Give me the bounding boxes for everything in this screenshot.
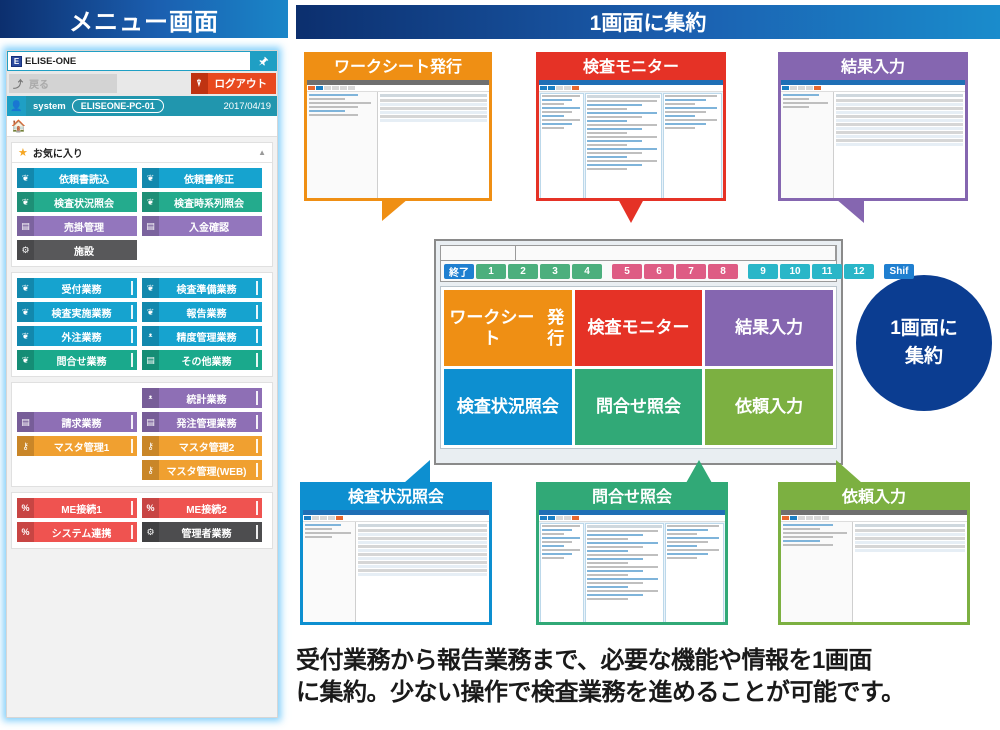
card-title: 依頼入力 (778, 482, 970, 507)
mini-right-pane (663, 93, 722, 198)
app-title: ELISE-ONE (25, 56, 76, 67)
mini-toolbar (781, 85, 965, 92)
mini-form-panel (781, 522, 853, 622)
star-icon: ★ (18, 146, 28, 159)
tile-inquiry[interactable]: 問合せ照会 (575, 369, 703, 445)
mini-toolbar (539, 515, 725, 522)
menu-button-システム連携[interactable]: %システム連携 (17, 522, 137, 542)
card-title: 問合せ照会 (536, 482, 728, 507)
section-header[interactable]: ★お気に入り▲ (12, 143, 272, 163)
mini-table-row (358, 537, 487, 540)
menu-button-マスタ管理2[interactable]: ⚷マスタ管理2 (142, 436, 262, 456)
section-button-grid: ❦依頼書読込❦依頼書修正❦検査状況照会❦検査時系列照会▤売掛管理▤入金確認⚙施設 (12, 163, 272, 262)
function-key-5[interactable]: 5 (612, 264, 642, 279)
menu-button-label: 依頼書読込 (34, 171, 137, 186)
mini-table-row (855, 549, 965, 552)
menu-button-label: 報告業務 (159, 305, 262, 320)
menu-section-2: ᵜ統計業務▤請求業務▤発注管理業務⚷マスタ管理1⚷マスタ管理2⚷マスタ管理(WE… (11, 382, 273, 487)
link-icon: % (17, 498, 34, 518)
menu-button-placeholder (17, 460, 137, 480)
screenshot-card-test-monitor[interactable]: 検査モニター (536, 52, 726, 201)
menu-sections: ★お気に入り▲❦依頼書読込❦依頼書修正❦検査状況照会❦検査時系列照会▤売掛管理▤… (7, 142, 277, 549)
menu-button-label: システム連携 (34, 525, 137, 540)
back-button-label: 戻る (29, 76, 49, 91)
card-screenshot (304, 77, 492, 201)
mini-table-row (358, 529, 487, 532)
function-key-2[interactable]: 2 (508, 264, 538, 279)
menu-button-label: マスタ管理1 (34, 439, 137, 454)
function-key-7[interactable]: 7 (676, 264, 706, 279)
key-icon: ⚷ (142, 460, 159, 480)
app-title-group: E ELISE-ONE (8, 56, 76, 67)
shield-icon: ❦ (17, 350, 34, 370)
mini-body (539, 522, 725, 622)
console-header-cell (516, 246, 836, 260)
menu-button-label: 統計業務 (159, 391, 262, 406)
shield-icon: ❦ (17, 168, 34, 188)
screenshot-card-test-status-inquiry[interactable]: 検査状況照会 (300, 482, 492, 625)
tile-label-line: 検査モニター (587, 317, 689, 338)
card-pointer-arrow (686, 460, 712, 483)
user-icon: 👤 (7, 96, 26, 116)
menu-button-placeholder (17, 388, 137, 408)
fkey-gap (876, 264, 882, 279)
card-screenshot (300, 507, 492, 625)
mini-toolbar (307, 85, 489, 92)
menu-button-label: 問合せ業務 (34, 353, 137, 368)
unified-console: 終了123456789101112Shif ワークシート発行検査モニター結果入力… (434, 239, 843, 465)
shield-icon: ❦ (17, 278, 34, 298)
mini-toolbar (781, 515, 967, 522)
function-key-12[interactable]: 12 (844, 264, 874, 279)
menu-button-label: 検査時系列照会 (159, 195, 262, 210)
menu-button-検査準備業務[interactable]: ❦検査準備業務 (142, 278, 262, 298)
mini-table-panel (356, 522, 489, 622)
mini-table-row (855, 541, 965, 544)
console-header-bar (440, 245, 837, 261)
app-logo-icon: E (11, 56, 22, 67)
current-date: 2017/04/19 (223, 101, 277, 112)
tile-label-line: 検査状況 (457, 396, 525, 417)
mini-table-row (836, 115, 963, 118)
menu-button-label: 施設 (34, 243, 137, 258)
mini-table-row (836, 127, 963, 130)
mini-table-row (380, 103, 487, 106)
menu-button-label: その他業務 (159, 353, 262, 368)
shield-icon: ❦ (142, 278, 159, 298)
shield-icon: ❦ (17, 302, 34, 322)
shield-icon: ❦ (17, 326, 34, 346)
menu-button-外注業務[interactable]: ❦外注業務 (17, 326, 137, 346)
book-icon: ▤ (142, 216, 159, 236)
card-pointer-arrow (836, 199, 864, 223)
mini-table-row (380, 107, 487, 110)
fkey-gap (604, 264, 610, 279)
menu-button-label: 売掛管理 (34, 219, 137, 234)
caret-up-icon[interactable]: ▲ (258, 148, 266, 157)
consolidated-banner: 1画面に集約 (296, 5, 1000, 39)
caption-line-2: に集約。少ない操作で検査業務を進めることが可能です。 (296, 677, 1000, 709)
function-key-11[interactable]: 11 (812, 264, 842, 279)
menu-button-依頼書修正[interactable]: ❦依頼書修正 (142, 168, 262, 188)
key-icon: ⚷ (17, 436, 34, 456)
mini-center-pane (585, 523, 663, 622)
mini-table-row (358, 557, 487, 560)
back-button[interactable]: ⤴ 戻る (9, 74, 117, 93)
link-icon: % (142, 498, 159, 518)
menu-section-3: %ME接続1%ME接続2%システム連携⚙管理者業務 (11, 492, 273, 549)
screenshot-card-inquiry-lookup[interactable]: 問合せ照会 (536, 482, 728, 625)
mini-window (781, 80, 965, 198)
menu-section-0: ★お気に入り▲❦依頼書読込❦依頼書修正❦検査状況照会❦検査時系列照会▤売掛管理▤… (11, 142, 273, 267)
menu-button-label: 検査準備業務 (159, 281, 262, 296)
menu-button-label: マスタ管理(WEB) (159, 463, 262, 478)
tile-test-status[interactable]: 検査状況照会 (444, 369, 572, 445)
menu-button-報告業務[interactable]: ❦報告業務 (142, 302, 262, 322)
section-button-grid: ❦受付業務❦検査準備業務❦検査実施業務❦報告業務❦外注業務ᵜ精度管理業務❦問合せ… (12, 273, 272, 372)
tile-result-entry[interactable]: 結果入力 (705, 290, 833, 366)
mini-body (539, 92, 723, 198)
badge-line-1: 1画面に (890, 315, 958, 343)
mini-window (303, 510, 489, 622)
home-row[interactable]: 🏠 (7, 116, 277, 137)
mini-table-row (836, 111, 963, 114)
mini-center-pane (585, 93, 662, 198)
tile-test-monitor[interactable]: 検査モニター (575, 290, 703, 366)
tile-worksheet-issue[interactable]: ワークシート発行 (444, 290, 572, 366)
menu-button-label: マスタ管理2 (159, 439, 262, 454)
tile-label-line: 結果入力 (735, 317, 803, 338)
mini-toolbar (303, 515, 489, 522)
mini-table-row (836, 143, 963, 146)
card-title: ワークシート発行 (304, 52, 492, 77)
menu-button-label: 外注業務 (34, 329, 137, 344)
mini-table-row (855, 529, 965, 532)
menu-button-発注管理業務[interactable]: ▤発注管理業務 (142, 412, 262, 432)
menu-button-ME接続2[interactable]: %ME接続2 (142, 498, 262, 518)
mini-table-row (380, 115, 487, 118)
menu-button-label: 管理者業務 (159, 525, 262, 540)
tile-label-line: ワークシート (444, 307, 540, 350)
mini-left-pane (540, 523, 584, 622)
key-icon: ⚷ (142, 436, 159, 456)
function-key-10[interactable]: 10 (780, 264, 810, 279)
card-title: 検査モニター (536, 52, 726, 77)
menu-section-1: ❦受付業務❦検査準備業務❦検査実施業務❦報告業務❦外注業務ᵜ精度管理業務❦問合せ… (11, 272, 273, 377)
function-key-9[interactable]: 9 (748, 264, 778, 279)
user-info-row: 👤 system ELISEONE-PC-01 2017/04/19 (7, 96, 277, 116)
menu-button-label: 検査実施業務 (34, 305, 137, 320)
mini-table-row (836, 119, 963, 122)
pc-name-chip: ELISEONE-PC-01 (72, 99, 164, 113)
mini-table-row (836, 135, 963, 138)
menu-button-label: 検査状況照会 (34, 195, 137, 210)
menu-button-label: 発注管理業務 (159, 415, 262, 430)
mini-body (781, 522, 967, 622)
section-title: お気に入り (33, 145, 83, 160)
menu-button-検査時系列照会[interactable]: ❦検査時系列照会 (142, 192, 262, 212)
menu-button-統計業務[interactable]: ᵜ統計業務 (142, 388, 262, 408)
menu-button-label: ME接続1 (34, 501, 137, 516)
tile-label-line: 発行 (540, 307, 572, 350)
menu-button-受付業務[interactable]: ❦受付業務 (17, 278, 137, 298)
nav-row: ⤴ 戻る ⍒ ログアウト (7, 71, 277, 96)
function-key-終了[interactable]: 終了 (444, 264, 474, 279)
mini-window (781, 510, 967, 622)
card-screenshot (536, 507, 728, 625)
consolidation-badge: 1画面に 集約 (856, 275, 992, 411)
function-key-1[interactable]: 1 (476, 264, 506, 279)
mini-window (539, 510, 725, 622)
shield-icon: ❦ (17, 192, 34, 212)
screenshot-card-worksheet-issue[interactable]: ワークシート発行 (304, 52, 492, 201)
mini-table-row (380, 119, 487, 122)
mini-table-row (836, 131, 963, 134)
mini-table-row (358, 565, 487, 568)
badge-line-2: 集約 (905, 343, 943, 371)
menu-button-label: ME接続2 (159, 501, 262, 516)
card-screenshot (778, 77, 968, 201)
mini-table-row (855, 533, 965, 536)
mini-table-row (358, 533, 487, 536)
console-header-cell (441, 246, 516, 260)
mini-body (303, 522, 489, 622)
function-key-Shif[interactable]: Shif (884, 264, 914, 279)
card-pointer-arrow (618, 199, 644, 223)
gear-icon: ⚙ (142, 522, 159, 542)
home-icon[interactable]: 🏠 (11, 119, 26, 133)
mini-table-row (836, 103, 963, 106)
card-title: 結果入力 (778, 52, 968, 77)
menu-button-精度管理業務[interactable]: ᵜ精度管理業務 (142, 326, 262, 346)
menu-button-入金確認[interactable]: ▤入金確認 (142, 216, 262, 236)
caption-line-1: 受付業務から報告業務まで、必要な機能や情報を1画面 (296, 645, 1000, 677)
back-arrow-icon: ⤴ (13, 76, 23, 91)
mini-table-row (380, 111, 487, 114)
mini-window (307, 80, 489, 198)
mini-left-pane (540, 93, 584, 198)
menu-screen-banner: メニュー画面 (0, 0, 288, 38)
chart-icon: ᵜ (142, 326, 159, 346)
chart-icon: ᵜ (142, 388, 159, 408)
card-screenshot (536, 77, 726, 201)
mini-body (781, 92, 965, 198)
menu-button-管理者業務[interactable]: ⚙管理者業務 (142, 522, 262, 542)
card-screenshot (778, 507, 970, 625)
menu-button-施設[interactable]: ⚙施設 (17, 240, 137, 260)
function-key-4[interactable]: 4 (572, 264, 602, 279)
menu-button-label: 請求業務 (34, 415, 137, 430)
tile-request-entry[interactable]: 依頼入力 (705, 369, 833, 445)
shield-icon: ❦ (142, 168, 159, 188)
book-icon: ▤ (142, 350, 159, 370)
link-icon: % (17, 522, 34, 542)
menu-button-ME接続1[interactable]: %ME接続1 (17, 498, 137, 518)
mini-window (539, 80, 723, 198)
card-pointer-arrow (404, 460, 430, 483)
function-key-3[interactable]: 3 (540, 264, 570, 279)
page-root: メニュー画面 E ELISE-ONE ⤴ 戻る ⍒ ログアウト (0, 0, 1000, 730)
function-key-8[interactable]: 8 (708, 264, 738, 279)
mini-table-panel (834, 92, 965, 198)
book-icon: ▤ (142, 412, 159, 432)
menu-button-マスタ管理1[interactable]: ⚷マスタ管理1 (17, 436, 137, 456)
tile-label-line: 照会 (525, 396, 559, 417)
mini-table-row (380, 99, 487, 102)
fkey-gap (740, 264, 746, 279)
menu-button-検査実施業務[interactable]: ❦検査実施業務 (17, 302, 137, 322)
function-tile-grid: ワークシート発行検査モニター結果入力検査状況照会問合せ照会依頼入力 (440, 286, 837, 449)
book-icon: ▤ (17, 412, 34, 432)
menu-button-label: 依頼書修正 (159, 171, 262, 186)
mini-table-row (836, 139, 963, 142)
mini-table-row (358, 541, 487, 544)
menu-button-その他業務[interactable]: ▤その他業務 (142, 350, 262, 370)
tile-label-line: 問合せ照会 (596, 396, 681, 417)
mini-table-row (836, 107, 963, 110)
pin-icon[interactable] (250, 52, 276, 70)
screenshot-card-result-entry[interactable]: 結果入力 (778, 52, 968, 201)
mini-form-panel (303, 522, 356, 622)
screenshot-card-request-entry[interactable]: 依頼入力 (778, 482, 970, 625)
mini-table-row (836, 99, 963, 102)
logout-button[interactable]: ⍒ ログアウト (191, 73, 277, 94)
section-button-grid: %ME接続1%ME接続2%システム連携⚙管理者業務 (12, 493, 272, 544)
section-button-grid: ᵜ統計業務▤請求業務▤発注管理業務⚷マスタ管理1⚷マスタ管理2⚷マスタ管理(WE… (12, 383, 272, 482)
mini-form-panel (307, 92, 378, 198)
app-titlebar: E ELISE-ONE (7, 51, 277, 71)
mini-table-row (358, 545, 487, 548)
menu-button-検査状況照会[interactable]: ❦検査状況照会 (17, 192, 137, 212)
menu-button-依頼書読込[interactable]: ❦依頼書読込 (17, 168, 137, 188)
logout-button-label: ログアウト (208, 76, 277, 91)
logout-icon: ⍒ (191, 73, 208, 94)
caption-block: 受付業務から報告業務まで、必要な機能や情報を1画面 に集約。少ない操作で検査業務… (296, 645, 1000, 708)
mini-table-panel (853, 522, 967, 622)
mini-table-row (358, 553, 487, 556)
menu-button-問合せ業務[interactable]: ❦問合せ業務 (17, 350, 137, 370)
mini-table-row (358, 561, 487, 564)
shield-icon: ❦ (142, 302, 159, 322)
menu-button-請求業務[interactable]: ▤請求業務 (17, 412, 137, 432)
card-pointer-arrow (382, 199, 408, 221)
mini-table-row (358, 569, 487, 572)
menu-button-label: 受付業務 (34, 281, 137, 296)
mini-table-row (836, 123, 963, 126)
mini-body (307, 92, 489, 198)
gear-icon: ⚙ (17, 240, 34, 260)
mini-right-pane (665, 523, 724, 622)
consolidated-screen-column: 1画面に集約 ワークシート発行検査モニター結果入力 1画面に 集約 終了1234… (296, 0, 1000, 730)
mini-toolbar (539, 85, 723, 92)
elise-one-window: E ELISE-ONE ⤴ 戻る ⍒ ログアウト 👤 sy (6, 50, 278, 718)
shield-icon: ❦ (142, 192, 159, 212)
menu-button-label: 精度管理業務 (159, 329, 262, 344)
mini-form-panel (781, 92, 834, 198)
menu-button-label: 入金確認 (159, 219, 262, 234)
mini-table-row (855, 545, 965, 548)
card-title: 検査状況照会 (300, 482, 492, 507)
mini-table-row (855, 537, 965, 540)
menu-button-マスタ管理(WEB)[interactable]: ⚷マスタ管理(WEB) (142, 460, 262, 480)
tile-label-line: 依頼入力 (735, 396, 803, 417)
book-icon: ▤ (17, 216, 34, 236)
mini-table-row (358, 549, 487, 552)
card-pointer-arrow (836, 460, 862, 483)
menu-screen-column: メニュー画面 E ELISE-ONE ⤴ 戻る ⍒ ログアウト (0, 0, 288, 730)
user-name: system (26, 101, 72, 112)
menu-button-売掛管理[interactable]: ▤売掛管理 (17, 216, 137, 236)
mini-table-panel (378, 92, 489, 198)
mini-table-row (358, 573, 487, 576)
function-key-bar: 終了123456789101112Shif (440, 261, 837, 282)
function-key-6[interactable]: 6 (644, 264, 674, 279)
